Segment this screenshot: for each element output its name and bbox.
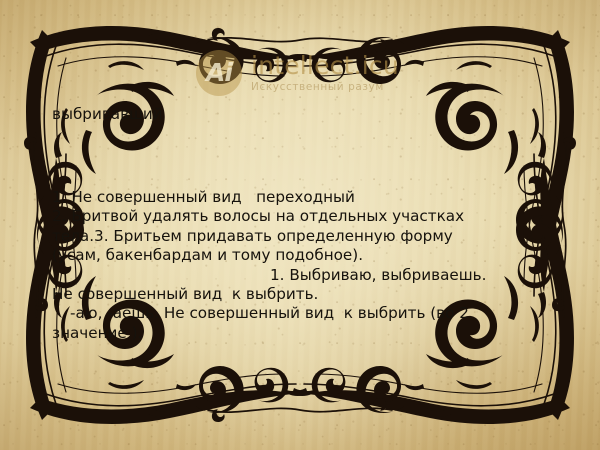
entry-line: значение ). bbox=[52, 324, 552, 343]
dictionary-entry: выбривавший 1. Не совершенный вид перехо… bbox=[52, 66, 552, 382]
entry-line: тела.3. Бритьем придавать определенную ф… bbox=[52, 227, 552, 246]
edge-rule-right bbox=[552, 133, 576, 317]
edge-rule-left bbox=[24, 133, 48, 317]
entry-line: 1. Выбриваю, выбриваешь. bbox=[52, 266, 552, 285]
entry-line: -аю, -аешь. Не совершенный вид к выбрить… bbox=[52, 304, 552, 323]
edge-rule-bottom bbox=[208, 398, 392, 422]
parchment-card: Ai intellect.icu Искусственный разум выб… bbox=[0, 0, 600, 450]
entry-headword: выбривавший bbox=[52, 105, 552, 124]
entry-line: Не совершенный вид к выбрить. bbox=[52, 285, 552, 304]
entry-line: 2. Бритвой удалять волосы на отдельных у… bbox=[52, 207, 552, 226]
entry-line: (усам, бакенбардам и тому подобное). bbox=[52, 246, 552, 265]
entry-definition-list: 1. Не совершенный вид переходный2. Бритв… bbox=[52, 188, 552, 343]
entry-line: 1. Не совершенный вид переходный bbox=[52, 188, 552, 207]
edge-rule-top bbox=[208, 28, 392, 52]
